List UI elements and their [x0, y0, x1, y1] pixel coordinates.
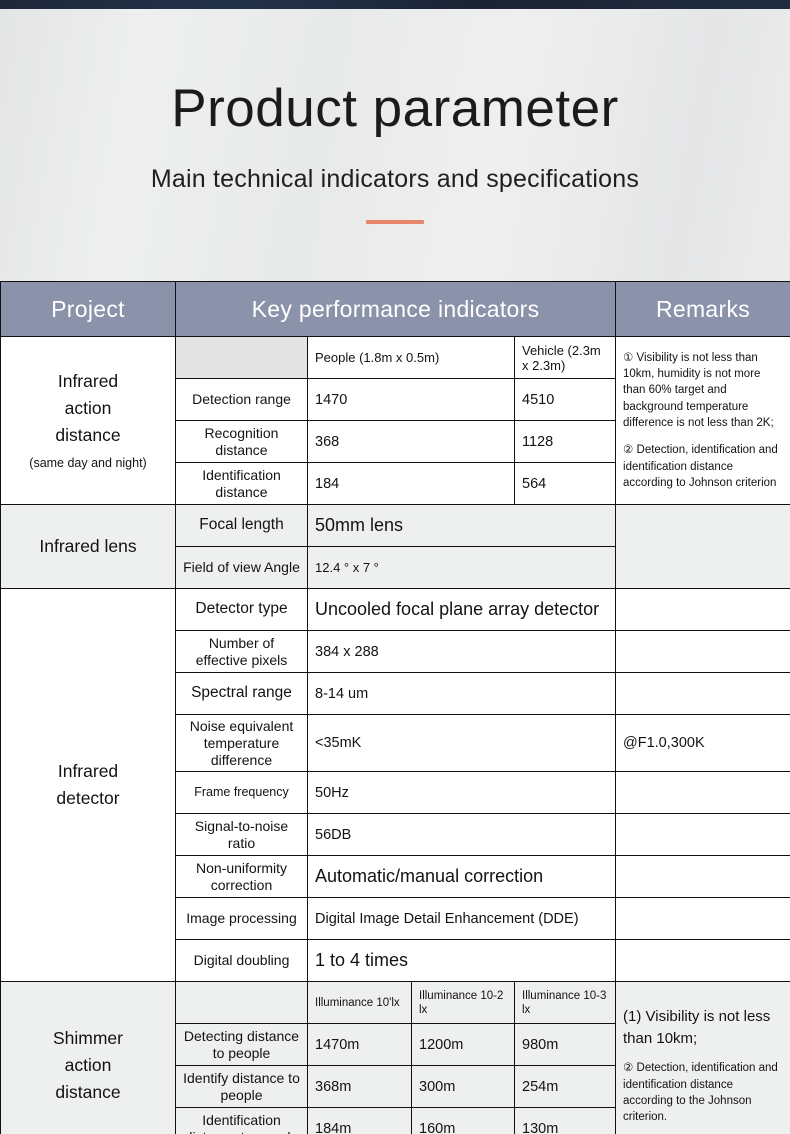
- param-value-people: 368: [308, 421, 515, 463]
- param-label: Focal length: [176, 505, 308, 547]
- param-value: <35mK: [308, 715, 616, 772]
- page-subtitle: Main technical indicators and specificat…: [0, 137, 790, 194]
- param-value: 1 to 4 times: [308, 940, 616, 982]
- remarks-cell: [616, 814, 790, 856]
- param-label: Digital doubling: [176, 940, 308, 982]
- param-value-lx3: 130m: [515, 1108, 616, 1134]
- param-label: Identify distance to people: [176, 1066, 308, 1108]
- group-label-line1: Shimmer: [53, 1028, 123, 1048]
- subheader-people: People (1.8m x 0.5m): [308, 337, 515, 379]
- subheader-blank: [176, 982, 308, 1024]
- remarks-cell: [616, 772, 790, 814]
- param-value-vehicle: 1128: [515, 421, 616, 463]
- table-row: Infrared lens Focal length 50mm lens: [1, 505, 790, 547]
- param-label: Recognition distance: [176, 421, 308, 463]
- title-divider: [366, 220, 424, 224]
- col-header-remarks: Remarks: [616, 282, 790, 337]
- spec-table-wrap: Project Key performance indicators Remar…: [0, 281, 790, 1134]
- param-label: Detector type: [176, 589, 308, 631]
- group-label-line1: Infrared: [58, 761, 118, 781]
- param-value-vehicle: 564: [515, 463, 616, 505]
- param-value-lx1: 1470m: [308, 1024, 412, 1066]
- param-value-lx1: 368m: [308, 1066, 412, 1108]
- remarks-infrared-lens: [616, 505, 790, 589]
- param-label: Spectral range: [176, 673, 308, 715]
- param-value-lx2: 1200m: [412, 1024, 515, 1066]
- group-label-line3: distance: [55, 1082, 120, 1102]
- subheader-illuminance-1: Illuminance 10'lx: [308, 982, 412, 1024]
- param-value: Automatic/manual correction: [308, 856, 616, 898]
- remark-item-2: ② Detection, identification and identifi…: [623, 442, 783, 491]
- param-value-lx3: 980m: [515, 1024, 616, 1066]
- group-infrared-detector: Infrared detector: [1, 589, 176, 982]
- subheader-blank: [176, 337, 308, 379]
- param-label: Number of effective pixels: [176, 631, 308, 673]
- param-value: 12.4 ° x 7 °: [308, 547, 616, 589]
- subheader-vehicle: Vehicle (2.3m x 2.3m): [515, 337, 616, 379]
- group-shimmer-action-distance: Shimmer action distance: [1, 982, 176, 1134]
- param-value-vehicle: 4510: [515, 379, 616, 421]
- top-accent-bar: [0, 0, 790, 9]
- group-infrared-action-distance: Infrared action distance (same day and n…: [1, 337, 176, 505]
- param-label: Image processing: [176, 898, 308, 940]
- hero-banner: Product parameter Main technical indicat…: [0, 9, 790, 281]
- group-label-line1: Infrared: [58, 371, 118, 391]
- table-row: Infrared action distance (same day and n…: [1, 337, 790, 379]
- col-header-project: Project: [1, 282, 176, 337]
- param-value-lx2: 160m: [412, 1108, 515, 1134]
- param-label: Signal-to-noise ratio: [176, 814, 308, 856]
- param-value: Digital Image Detail Enhancement (DDE): [308, 898, 616, 940]
- remarks-infrared-action-distance: ① Visibility is not less than 10km, humi…: [616, 337, 790, 505]
- group-label-line2: action: [65, 398, 112, 418]
- remarks-shimmer-action-distance: (1) Visibility is not less than 10km; ② …: [616, 982, 790, 1134]
- page-root: Product parameter Main technical indicat…: [0, 0, 790, 1134]
- param-value-people: 1470: [308, 379, 515, 421]
- remarks-cell: [616, 856, 790, 898]
- param-label: Detection range: [176, 379, 308, 421]
- header-row: Project Key performance indicators Remar…: [1, 282, 790, 337]
- remarks-cell: [616, 940, 790, 982]
- remarks-cell: [616, 631, 790, 673]
- table-body: Infrared action distance (same day and n…: [1, 337, 790, 1134]
- table-head: Project Key performance indicators Remar…: [1, 282, 790, 337]
- param-value: 384 x 288: [308, 631, 616, 673]
- group-label-line2: action: [65, 1055, 112, 1075]
- param-label: Identification distance: [176, 463, 308, 505]
- group-infrared-lens: Infrared lens: [1, 505, 176, 589]
- col-header-indicators: Key performance indicators: [176, 282, 616, 337]
- remark-item-2: ② Detection, identification and identifi…: [623, 1060, 783, 1125]
- remark-item-1: ① Visibility is not less than 10km, humi…: [623, 350, 783, 432]
- remarks-cell: @F1.0,300K: [616, 715, 790, 772]
- spec-table: Project Key performance indicators Remar…: [0, 281, 790, 1134]
- table-row: Infrared detector Detector type Uncooled…: [1, 589, 790, 631]
- table-row: Shimmer action distance Illuminance 10'l…: [1, 982, 790, 1024]
- param-value-lx1: 184m: [308, 1108, 412, 1134]
- remarks-cell: [616, 673, 790, 715]
- param-label: Identification distance to people: [176, 1108, 308, 1134]
- param-label: Noise equivalent temperature difference: [176, 715, 308, 772]
- page-title: Product parameter: [0, 9, 790, 137]
- group-label-line2: detector: [56, 788, 119, 808]
- group-label-line3: distance: [55, 425, 120, 445]
- param-value: 50Hz: [308, 772, 616, 814]
- param-label: Detecting distance to people: [176, 1024, 308, 1066]
- remarks-cell: [616, 898, 790, 940]
- param-value-lx3: 254m: [515, 1066, 616, 1108]
- remarks-cell: [616, 589, 790, 631]
- param-value: Uncooled focal plane array detector: [308, 589, 616, 631]
- param-label: Field of view Angle: [176, 547, 308, 589]
- param-label: Frame frequency: [176, 772, 308, 814]
- param-value-lx2: 300m: [412, 1066, 515, 1108]
- param-value: 50mm lens: [308, 505, 616, 547]
- param-value: 8-14 um: [308, 673, 616, 715]
- param-value: 56DB: [308, 814, 616, 856]
- subheader-illuminance-3: Illuminance 10-3 lx: [515, 982, 616, 1024]
- param-value-people: 184: [308, 463, 515, 505]
- remark-item-1: (1) Visibility is not less than 10km;: [623, 1006, 783, 1050]
- subheader-illuminance-2: Illuminance 10-2 lx: [412, 982, 515, 1024]
- group-note: (same day and night): [8, 455, 168, 473]
- param-label: Non-uniformity correction: [176, 856, 308, 898]
